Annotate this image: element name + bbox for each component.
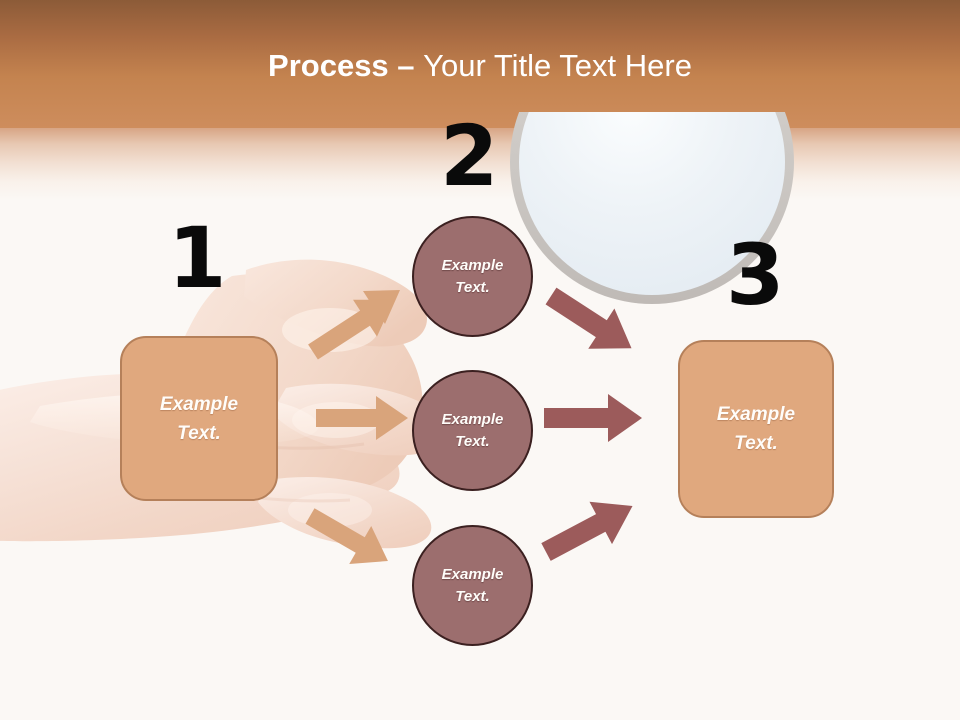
process-circle-1[interactable]: Example Text.: [412, 216, 533, 337]
process-circle-2-line2: Text.: [455, 431, 489, 453]
arrow-box1-to-circle2[interactable]: [312, 396, 410, 440]
slide-title-rest: Your Title Text Here: [423, 48, 692, 83]
arrow-circle2-to-box3[interactable]: [540, 396, 650, 442]
step-number-1: 1: [168, 216, 225, 300]
process-box-3-line2: Text.: [734, 429, 778, 458]
step-number-2: 2: [440, 114, 497, 198]
process-box-1-line1: Example: [160, 390, 238, 419]
arrow-box1-to-circle1[interactable]: [305, 280, 410, 365]
process-circle-3[interactable]: Example Text.: [412, 525, 533, 646]
process-box-1-line2: Text.: [177, 419, 221, 448]
step-number-3: 3: [726, 233, 783, 317]
slide-title-dash: –: [389, 48, 423, 83]
process-box-3[interactable]: Example Text.: [678, 340, 834, 518]
process-box-1[interactable]: Example Text.: [120, 336, 278, 501]
process-circle-2-line1: Example: [442, 409, 504, 431]
process-circle-3-line2: Text.: [455, 586, 489, 608]
slide-title-bold: Process: [268, 48, 389, 83]
arrow-circle3-to-box3[interactable]: [540, 500, 655, 585]
process-circle-1-line1: Example: [442, 255, 504, 277]
process-circle-2[interactable]: Example Text.: [412, 370, 533, 491]
process-circle-3-line1: Example: [442, 564, 504, 586]
slide-canvas: Process – Your Title Text Here: [0, 0, 960, 720]
process-circle-1-line2: Text.: [455, 277, 489, 299]
slide-title: Process – Your Title Text Here: [0, 48, 960, 84]
process-box-3-line1: Example: [717, 400, 795, 429]
arrow-box1-to-circle3[interactable]: [305, 505, 410, 585]
arrow-circle1-to-box3[interactable]: [545, 288, 660, 378]
